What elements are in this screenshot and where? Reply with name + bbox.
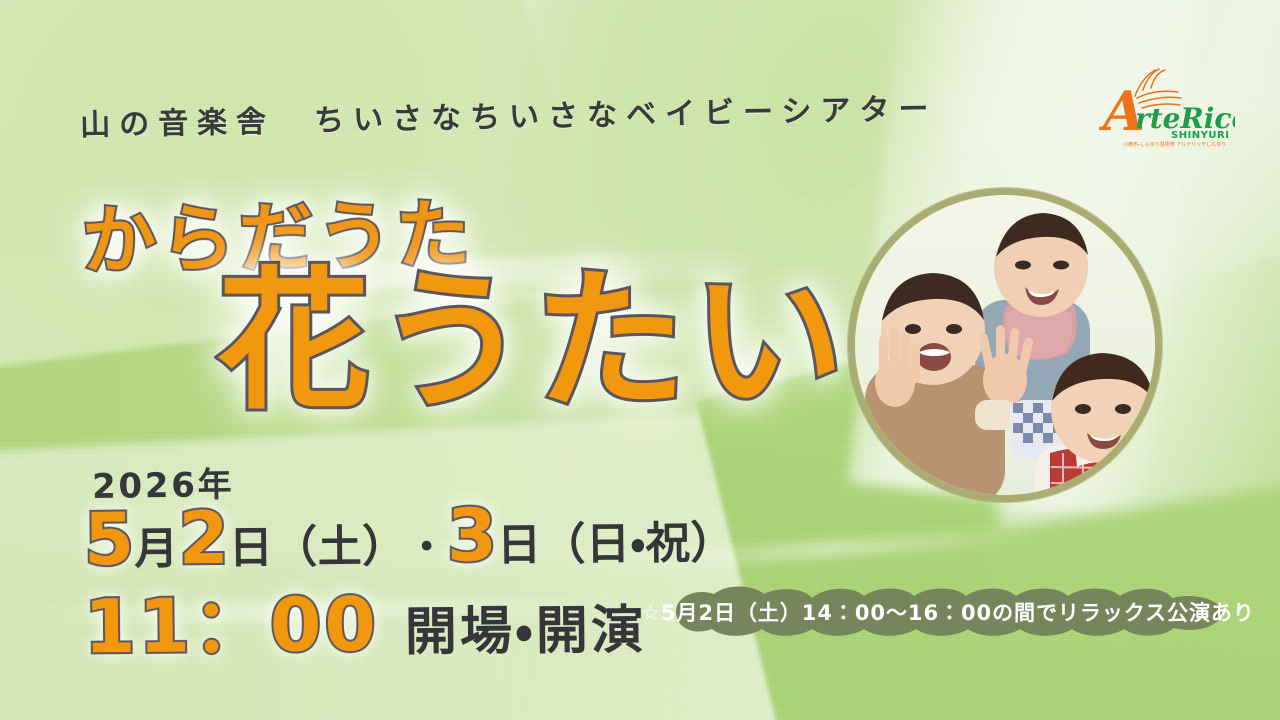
logo-tagline: 川崎市・しんゆり芸術祭 アルテリッチしんゆり xyxy=(1123,141,1226,148)
babies-photo-icon xyxy=(855,195,1155,495)
event-date-line: 5 月 2 日（土） ・ 3 日（日・祝） xyxy=(84,497,735,576)
poster-canvas: 山の音楽舎 ちいさなちいさなベイビーシアター A rteRicca SHINYU… xyxy=(0,0,1280,720)
event-time-line: 11 ： 00 開場・開演 xyxy=(84,586,647,665)
event-day1-number: 2 xyxy=(178,502,229,575)
logo-subtitle: SHINYURI xyxy=(1171,130,1229,141)
event-time-hour: 11 xyxy=(84,590,194,665)
relax-banner-text: ☆5月2日（土）14：00〜16：00の間でリラックス公演あり xyxy=(648,586,1248,638)
event-day2-label: 日（日・祝） xyxy=(497,522,735,568)
event-date-separator: ・ xyxy=(406,528,447,568)
babies-photo-frame xyxy=(848,188,1162,502)
event-day2-number: 3 xyxy=(446,499,497,572)
main-title: 花うたい xyxy=(218,266,850,418)
event-month-number: 5 xyxy=(84,503,135,576)
event-day1-label: 日（土） xyxy=(229,525,407,571)
event-month-label: 月 xyxy=(134,527,179,571)
arte-ricca-logo: A rteRicca SHINYURI 川崎市・しんゆり芸術祭 アルテリッチしん… xyxy=(1075,62,1235,150)
babies-photo xyxy=(855,195,1155,495)
event-time-minute: 00 xyxy=(270,588,380,663)
kicker-line: 山の音楽舎 ちいさなちいさなベイビーシアター xyxy=(80,84,938,144)
relax-performance-banner: ☆5月2日（土）14：00〜16：00の間でリラックス公演あり xyxy=(648,586,1248,638)
event-time-label: 開場・開演 xyxy=(405,605,647,659)
event-time-colon: ： xyxy=(193,589,271,664)
